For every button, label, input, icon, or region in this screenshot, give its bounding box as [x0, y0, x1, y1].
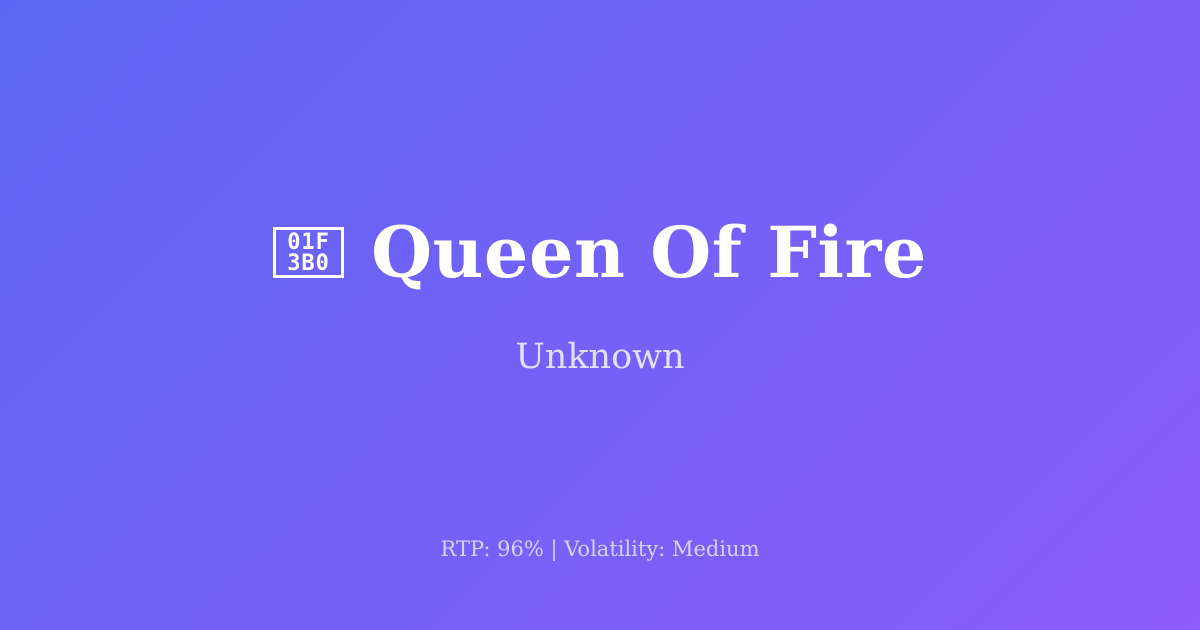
game-preview-card: 01F 3B0 Queen Of Fire Unknown RTP: 96% |… [0, 0, 1200, 630]
game-provider: Unknown [515, 338, 684, 377]
card-hero: 01F 3B0 Queen Of Fire Unknown [0, 216, 1200, 377]
game-title: Queen Of Fire [371, 216, 927, 290]
game-meta-footer: RTP: 96% | Volatility: Medium [0, 537, 1200, 562]
slot-machine-icon-codepoint-top: 01F [287, 232, 330, 253]
slot-machine-icon: 01F 3B0 [273, 227, 344, 278]
slot-machine-icon-codepoint-bottom: 3B0 [287, 253, 330, 274]
title-row: 01F 3B0 Queen Of Fire [273, 216, 927, 290]
